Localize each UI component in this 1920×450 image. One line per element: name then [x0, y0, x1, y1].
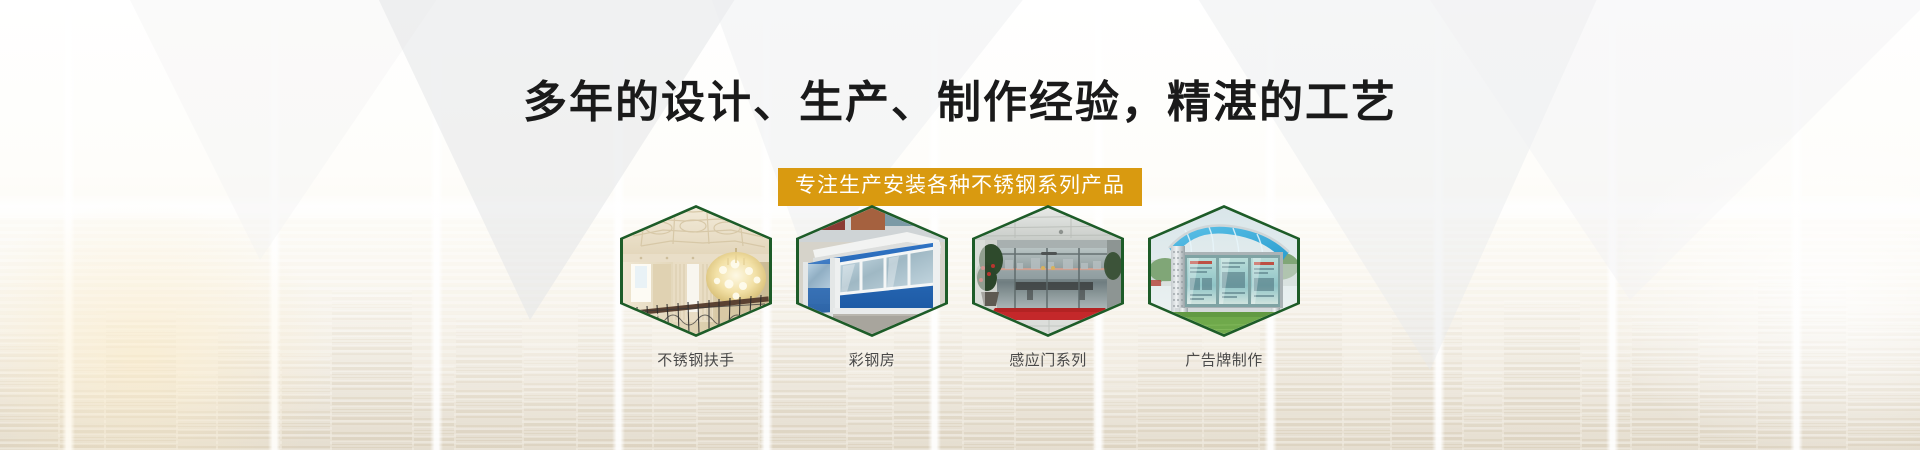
product-item-sensor-door[interactable]: 感应门系列	[972, 205, 1124, 371]
product-hexagon-row: 不锈钢扶手	[0, 205, 1920, 371]
billboard-fabrication-photo	[1151, 208, 1297, 334]
promo-banner: 多年的设计、生产、制作经验，精湛的工艺 专注生产安装各种不锈钢系列产品	[0, 0, 1920, 450]
hexagon-frame	[796, 205, 948, 337]
color-steel-booth-photo	[799, 208, 945, 334]
product-caption: 感应门系列	[1009, 351, 1087, 371]
product-caption: 不锈钢扶手	[657, 351, 735, 371]
product-caption: 彩钢房	[849, 351, 896, 371]
banner-headline: 多年的设计、生产、制作经验，精湛的工艺	[0, 76, 1920, 130]
banner-subtitle-badge: 专注生产安装各种不锈钢系列产品	[778, 168, 1142, 206]
hexagon-frame	[1148, 205, 1300, 337]
product-caption: 广告牌制作	[1185, 351, 1263, 371]
banner-subtitle-wrapper: 专注生产安装各种不锈钢系列产品	[0, 168, 1920, 206]
hexagon-frame	[972, 205, 1124, 337]
product-item-color-steel-room[interactable]: 彩钢房	[796, 205, 948, 371]
product-item-billboard[interactable]: 广告牌制作	[1148, 205, 1300, 371]
product-item-handrail[interactable]: 不锈钢扶手	[620, 205, 772, 371]
hexagon-frame	[620, 205, 772, 337]
automatic-sensor-door-photo	[975, 208, 1121, 334]
stainless-steel-handrail-photo	[623, 208, 769, 334]
